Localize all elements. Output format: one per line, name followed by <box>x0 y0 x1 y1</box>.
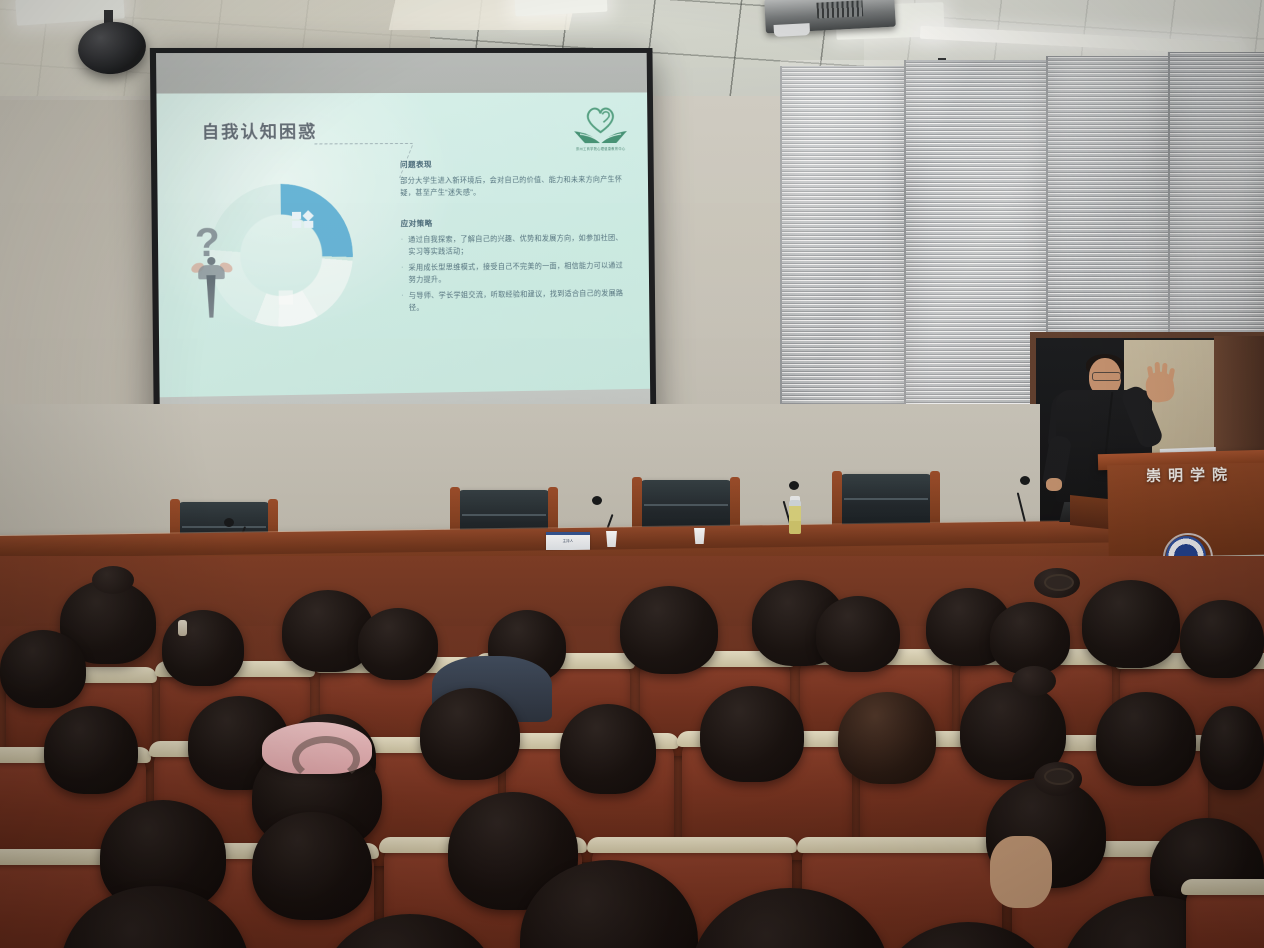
audience-head <box>816 596 900 672</box>
donut-segment-active <box>208 183 353 327</box>
heart-book-logo: 郑州工商学院心理健康教育中心 <box>566 104 635 156</box>
name-card-text: 主持人 <box>548 538 588 543</box>
audience-head <box>252 812 372 920</box>
cap-strap <box>292 736 360 782</box>
microphone-head-icon <box>789 481 799 490</box>
bullet-item: · 与导师、学长学姐交流，听取经验和建议，找到适合自己的发展路径。 <box>401 287 627 314</box>
audience-head <box>1200 706 1264 790</box>
audience-head <box>560 704 656 794</box>
audience-head <box>44 706 138 794</box>
chair-seam <box>644 504 728 506</box>
hair-bun <box>92 566 134 594</box>
audience-area <box>0 556 1264 948</box>
chair-seam <box>182 526 266 528</box>
chair-seam <box>844 498 928 500</box>
audience-head <box>420 688 520 780</box>
audience-head <box>1096 692 1196 786</box>
eyeglasses-icon <box>1092 372 1121 381</box>
water-bottle <box>789 500 801 534</box>
section-heading-strategy: 应对策略 <box>401 216 626 229</box>
callout-leader-line <box>301 143 414 179</box>
speaker-lower-hand <box>1046 478 1062 491</box>
figure-body <box>206 275 216 318</box>
section-heading-problem: 问题表现 <box>400 158 625 170</box>
bullet-text: 与导师、学长学姐交流，听取经验和建议，找到适合自己的发展路径。 <box>409 287 627 314</box>
microphone-head-icon <box>592 496 602 505</box>
audience-head <box>162 610 244 686</box>
chair-seam <box>462 514 546 516</box>
audience-head <box>0 630 86 708</box>
podium-institution-label: 崇明学院 <box>1146 463 1264 486</box>
bullet-item: · 通过自我探索，了解自己的兴趣、优势和发展方向，如参加社团、实习等实践活动； <box>401 232 627 258</box>
bullet-marker: · <box>401 262 404 286</box>
bullet-marker: · <box>401 234 404 258</box>
auditorium-seat <box>1186 886 1264 948</box>
donut-arc-chart: ? <box>188 163 374 348</box>
acoustic-panel <box>1046 56 1170 346</box>
square-icon <box>279 290 293 304</box>
book-icon <box>572 126 629 144</box>
auditorium-photo: 自我认知困惑 郑州工商学院心理健康教育中心 <box>0 0 1264 948</box>
audience-head <box>358 608 438 680</box>
slide-title: 自我认知困惑 <box>202 117 318 143</box>
hair-bun <box>1012 666 1056 696</box>
slide-text-column: 问题表现 部分大学生进入新环境后，会对自己的价值、能力和未来方向产生怀疑，甚至产… <box>400 158 627 314</box>
audience-head <box>700 686 804 782</box>
hair-clip <box>178 620 187 636</box>
presentation-slide: 自我认知困惑 郑州工商学院心理健康教育中心 <box>156 92 650 397</box>
figure-head <box>207 257 215 265</box>
audience-head <box>1180 600 1264 678</box>
bullet-item: · 采用成长型思维模式，接受自己不完美的一面，相信能力可以通过努力提升。 <box>401 260 627 286</box>
acoustic-panel <box>1168 52 1264 342</box>
hair-scrunchie <box>1044 574 1074 591</box>
bullet-text: 通过自我探索，了解自己的兴趣、优势和发展方向，如参加社团、实习等实践活动； <box>408 232 626 258</box>
logo-caption: 郑州工商学院心理健康教育中心 <box>570 146 631 151</box>
screen-unlit-top <box>156 53 647 94</box>
bullet-text: 采用成长型思维模式，接受自己不完美的一面，相信能力可以通过努力提升。 <box>408 260 626 286</box>
audience-hand <box>990 836 1052 908</box>
hair-scrunchie <box>1044 768 1074 785</box>
audience-head <box>990 602 1070 674</box>
bullet-marker: · <box>401 290 404 314</box>
audience-head <box>1082 580 1180 668</box>
microphone-head-icon <box>224 518 234 527</box>
microphone-head-icon <box>1020 476 1030 485</box>
audience-head <box>620 586 718 674</box>
section-paragraph-problem: 部分大学生进入新环境后，会对自己的价值、能力和未来方向产生怀疑，甚至产生"迷失感… <box>400 174 626 199</box>
audience-head <box>838 692 936 784</box>
